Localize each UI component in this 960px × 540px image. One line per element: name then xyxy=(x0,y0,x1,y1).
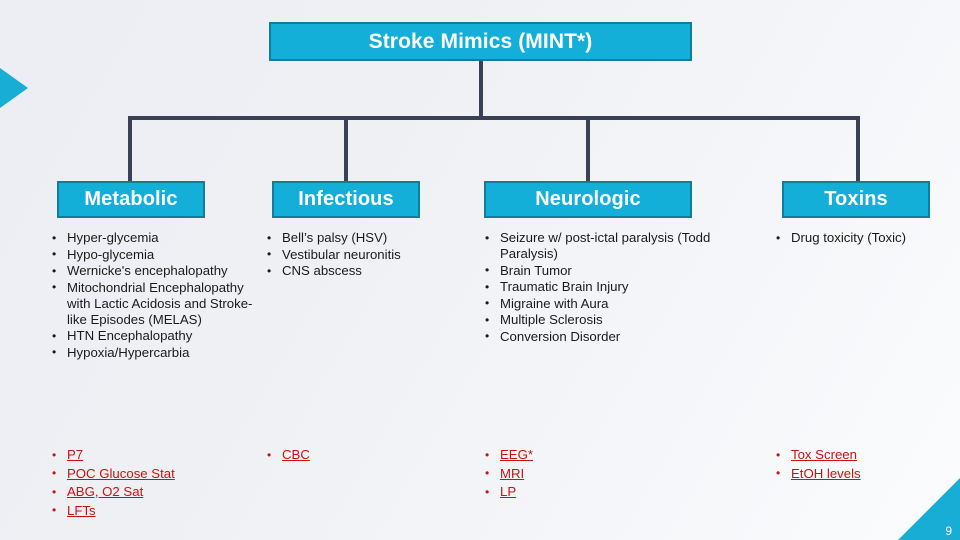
test-link[interactable]: EEG* xyxy=(500,447,533,462)
test-link[interactable]: ABG, O2 Sat xyxy=(67,484,143,499)
bullet-list: Bell’s palsy (HSV)Vestibular neuronitisC… xyxy=(263,230,478,279)
list-item[interactable]: CBC xyxy=(263,446,478,464)
condition-list-infectious: Bell’s palsy (HSV)Vestibular neuronitisC… xyxy=(263,230,478,280)
category-label-toxins: Toxins xyxy=(824,188,888,211)
test-bullet-list: CBC xyxy=(263,446,478,464)
connector-branch-metabolic xyxy=(128,116,132,182)
category-box-neurologic: Neurologic xyxy=(484,181,692,218)
bullet-list: Hyper-glycemiaHypo-glycemiaWernicke's en… xyxy=(48,230,253,361)
test-list-infectious: CBC xyxy=(263,446,478,465)
list-item[interactable]: Tox Screen xyxy=(772,446,960,464)
test-link[interactable]: LP xyxy=(500,484,516,499)
test-link[interactable]: POC Glucose Stat xyxy=(67,466,175,481)
test-link[interactable]: LFTs xyxy=(67,503,96,518)
condition-list-toxins: Drug toxicity (Toxic) xyxy=(772,230,960,247)
category-box-metabolic: Metabolic xyxy=(57,181,205,218)
list-item: Vestibular neuronitis xyxy=(263,247,478,263)
condition-list-neurologic: Seizure w/ post-ictal paralysis (Todd Pa… xyxy=(481,230,716,345)
connector-branch-neurologic xyxy=(586,116,590,182)
slide-canvas: 9 Stroke Mimics (MINT*) Metabolic Infect… xyxy=(0,0,960,540)
test-link[interactable]: MRI xyxy=(500,466,524,481)
list-item: Hypo-glycemia xyxy=(48,247,253,263)
test-bullet-list: P7POC Glucose StatABG, O2 SatLFTs xyxy=(48,446,253,520)
bullet-list: Seizure w/ post-ictal paralysis (Todd Pa… xyxy=(481,230,716,345)
category-box-infectious: Infectious xyxy=(272,181,420,218)
test-bullet-list: EEG*MRILP xyxy=(481,446,716,501)
list-item: Conversion Disorder xyxy=(481,329,716,345)
test-list-toxins: Tox ScreenEtOH levels xyxy=(772,446,960,483)
list-item: Brain Tumor xyxy=(481,263,716,279)
test-link[interactable]: Tox Screen xyxy=(791,447,857,462)
category-label-metabolic: Metabolic xyxy=(84,188,177,211)
list-item: Hyper-glycemia xyxy=(48,230,253,246)
connector-horizontal-bus xyxy=(128,116,860,120)
list-item: HTN Encephalopathy xyxy=(48,328,253,344)
test-list-metabolic: P7POC Glucose StatABG, O2 SatLFTs xyxy=(48,446,253,520)
bullet-list: Drug toxicity (Toxic) xyxy=(772,230,960,246)
list-item[interactable]: EEG* xyxy=(481,446,716,464)
list-item: Seizure w/ post-ictal paralysis (Todd Pa… xyxy=(481,230,716,262)
list-item: Migraine with Aura xyxy=(481,296,716,312)
list-item[interactable]: POC Glucose Stat xyxy=(48,465,253,483)
list-item[interactable]: P7 xyxy=(48,446,253,464)
list-item: Drug toxicity (Toxic) xyxy=(772,230,960,246)
connector-branch-toxins xyxy=(856,116,860,182)
category-label-neurologic: Neurologic xyxy=(535,188,640,211)
list-item: Wernicke's encephalopathy xyxy=(48,263,253,279)
connector-trunk-vertical xyxy=(479,61,483,119)
test-link[interactable]: EtOH levels xyxy=(791,466,861,481)
left-arrow-decoration xyxy=(0,68,28,108)
test-bullet-list: Tox ScreenEtOH levels xyxy=(772,446,960,483)
list-item[interactable]: LP xyxy=(481,483,716,501)
list-item[interactable]: ABG, O2 Sat xyxy=(48,483,253,501)
page-number: 9 xyxy=(945,525,952,537)
list-item[interactable]: LFTs xyxy=(48,502,253,520)
condition-list-metabolic: Hyper-glycemiaHypo-glycemiaWernicke's en… xyxy=(48,230,253,361)
list-item: CNS abscess xyxy=(263,263,478,279)
list-item: Mitochondrial Encephalopathy with Lactic… xyxy=(48,280,253,328)
test-link[interactable]: P7 xyxy=(67,447,83,462)
test-link[interactable]: CBC xyxy=(282,447,310,462)
page-title: Stroke Mimics (MINT*) xyxy=(369,30,593,54)
connector-branch-infectious xyxy=(344,116,348,182)
test-list-neurologic: EEG*MRILP xyxy=(481,446,716,502)
list-item[interactable]: MRI xyxy=(481,465,716,483)
category-box-toxins: Toxins xyxy=(782,181,930,218)
list-item[interactable]: EtOH levels xyxy=(772,465,960,483)
list-item: Multiple Sclerosis xyxy=(481,312,716,328)
list-item: Hypoxia/Hypercarbia xyxy=(48,345,253,361)
list-item: Bell’s palsy (HSV) xyxy=(263,230,478,246)
list-item: Traumatic Brain Injury xyxy=(481,279,716,295)
category-label-infectious: Infectious xyxy=(298,188,393,211)
diagram-title-box: Stroke Mimics (MINT*) xyxy=(269,22,692,61)
